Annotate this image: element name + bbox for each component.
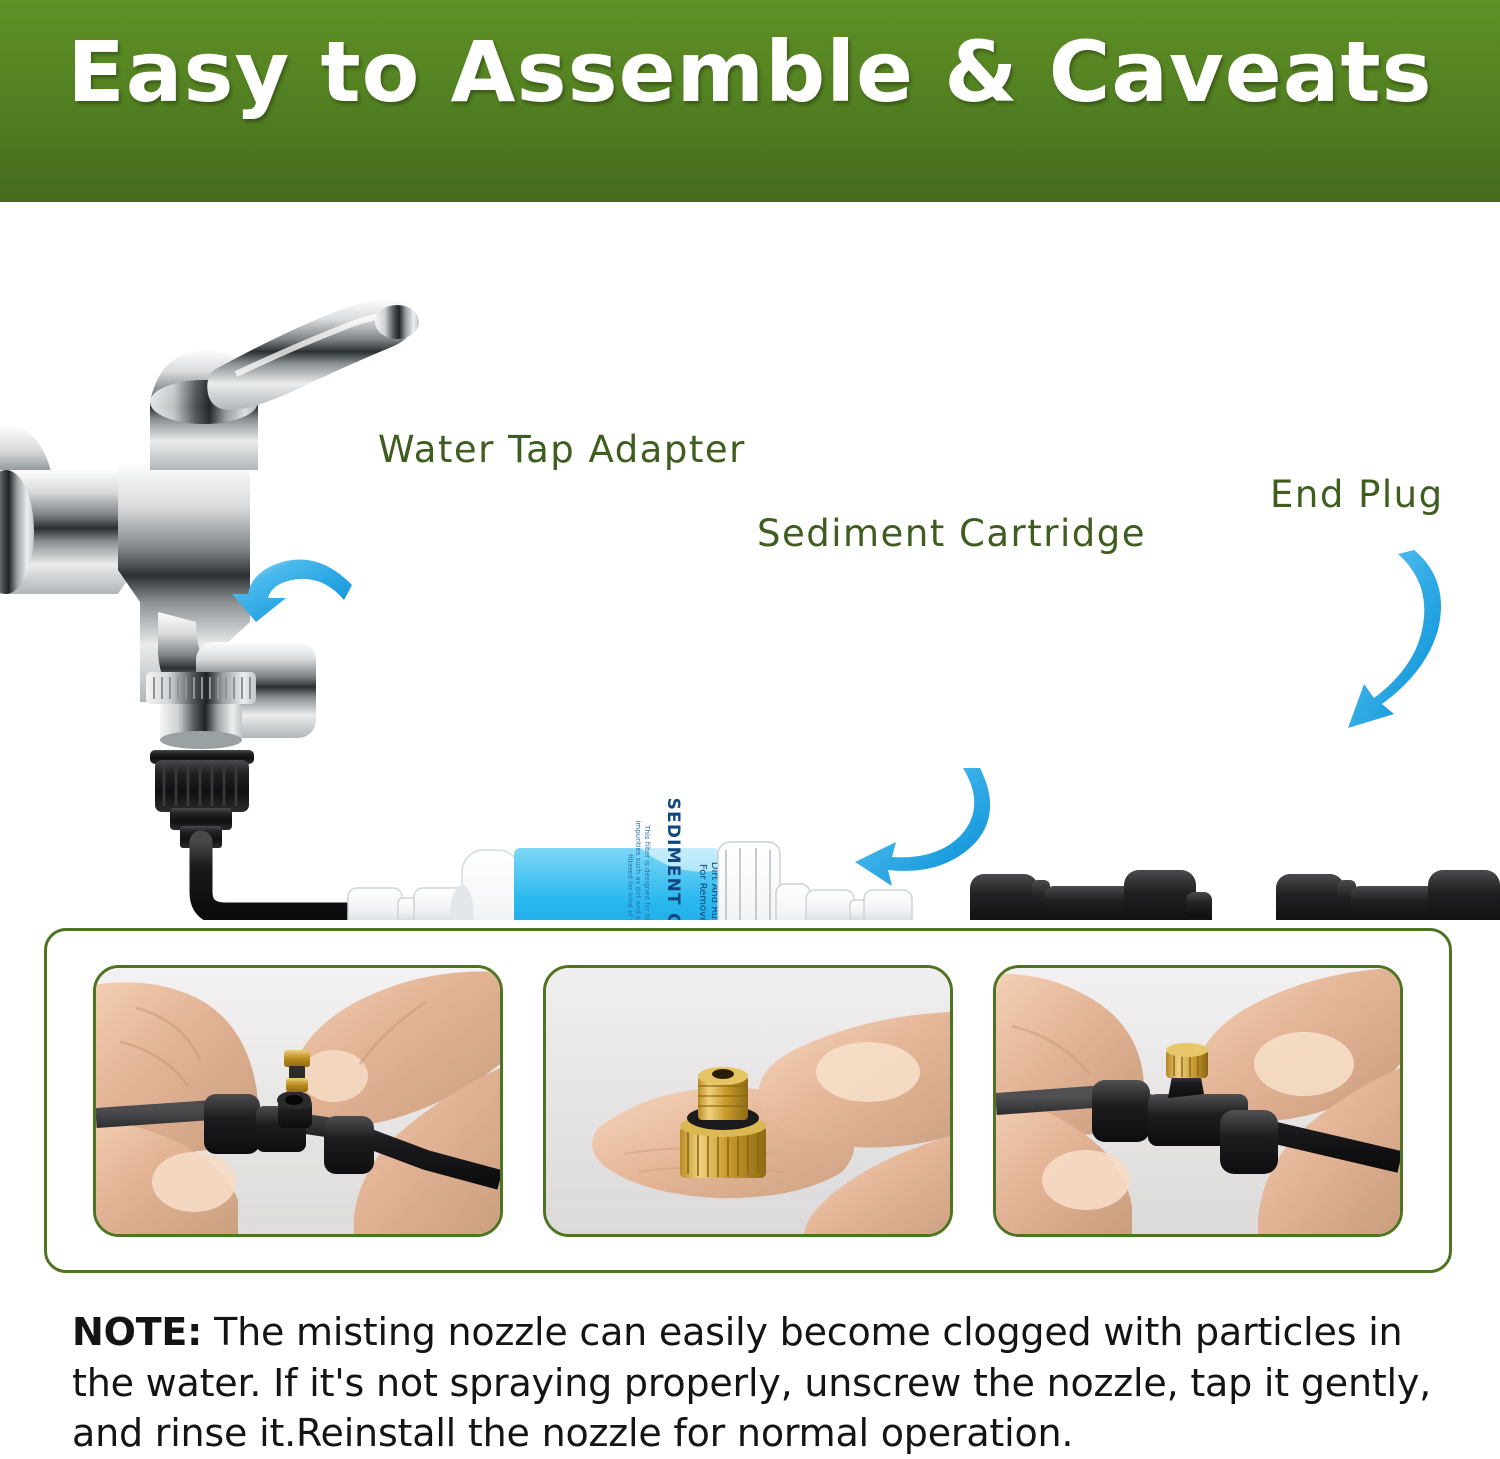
photo-tighten-nozzle	[993, 965, 1403, 1237]
chrome-faucet-icon	[0, 300, 419, 749]
tee-nozzle-assembly-1	[970, 870, 1212, 920]
header-banner: Easy to Assemble & Caveats	[0, 0, 1500, 202]
note-body: The misting nozzle can easily become clo…	[72, 1310, 1431, 1455]
label-water-tap-adapter: Water Tap Adapter	[378, 428, 746, 471]
svg-text:impurities such as dirt and sa: impurities such as dirt and sand down to…	[634, 820, 642, 920]
tee-nozzle-assembly-2	[1276, 870, 1500, 920]
arrow-to-sediment-cartridge-icon	[855, 768, 990, 886]
photo-row	[47, 931, 1449, 1270]
label-sediment-cartridge: Sediment Cartridge	[757, 512, 1146, 555]
note-text: NOTE: The misting nozzle can easily beco…	[72, 1307, 1447, 1459]
note-prefix: NOTE:	[72, 1310, 202, 1354]
svg-text:filtered for kind of visible p: filtered for kind of visible particles.	[626, 854, 634, 920]
photo-nozzle-closeup	[543, 965, 953, 1237]
svg-text:For Remove Of Sand: For Remove Of Sand	[697, 864, 708, 920]
sediment-cartridge-icon: SEDIMENT CARTRIDGE For Remove Of Sand Di…	[450, 798, 810, 920]
arrow-to-end-plug-icon	[1348, 550, 1441, 728]
svg-text:SEDIMENT CARTRIDGE: SEDIMENT CARTRIDGE	[663, 798, 683, 920]
photo-install-nozzle	[93, 965, 503, 1237]
page-title: Easy to Assemble & Caveats	[0, 28, 1500, 116]
assembly-diagram: SEDIMENT CARTRIDGE For Remove Of Sand Di…	[0, 202, 1500, 920]
quick-connect-fitting-right	[806, 890, 912, 920]
label-end-plug: End Plug	[1270, 473, 1444, 516]
quick-connect-fitting-left	[348, 888, 466, 920]
instruction-photo-panel	[44, 928, 1452, 1273]
svg-text:This filter is designed for hi: This filter is designed for highly effec…	[643, 824, 651, 920]
